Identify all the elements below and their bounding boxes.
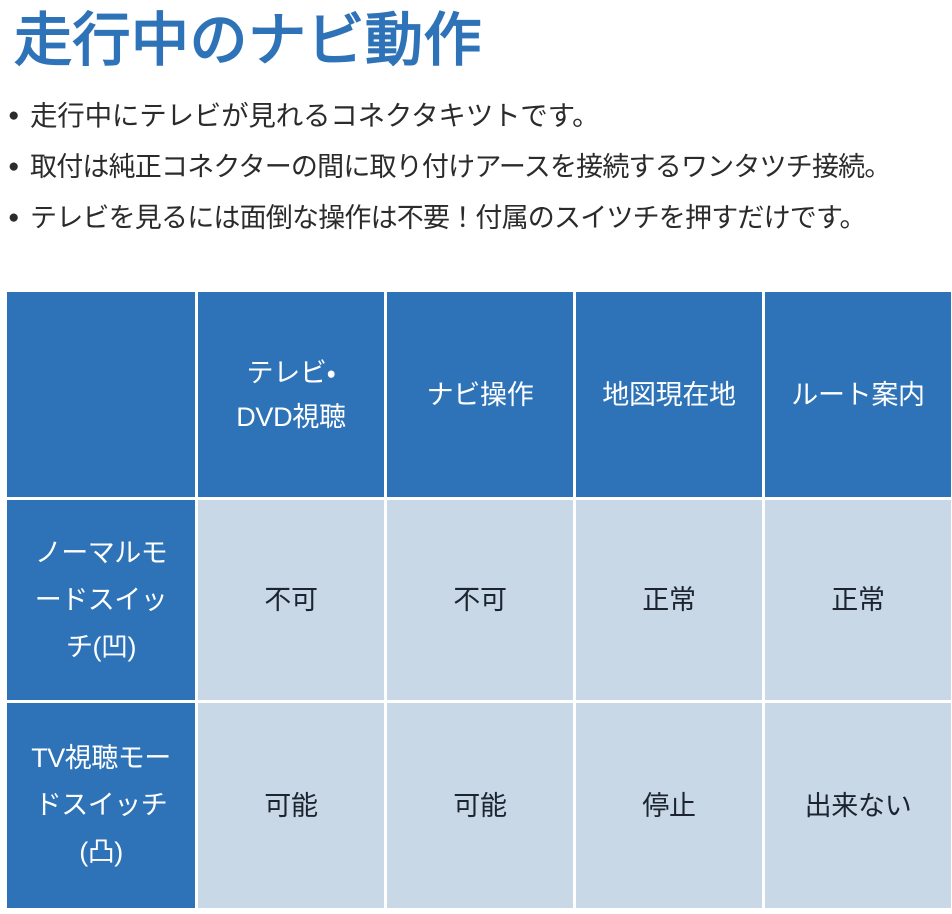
list-item-label: 取付は純正コネクターの間に取り付けアースを接続するワンタツチ接続。 [30,147,952,187]
list-item: ● テレビを見るには面倒な操作は不要！付属のスイツチを押すだけです。 [8,198,952,249]
column-header-tv-dvd: テレビ・ DVD視聴 [198,292,384,497]
bullet-dot-icon: ● [8,96,30,136]
list-item-label: テレビを見るには面倒な操作は不要！付属のスイツチを押すだけです。 [30,198,952,238]
cell-normal-map-current-location: 正常 [576,500,762,700]
row-header-line-3: チ(凹) [7,624,195,671]
column-header-line-1: テレビ・ [198,351,384,395]
cell-normal-nav-operation: 不可 [387,500,573,700]
column-header-map-current-location: 地図現在地 [576,292,762,497]
product-info-page: 走行中のナビ動作 ● 走行中にテレビが見れるコネクタキツトです。 ● 取付は純正… [0,0,952,914]
column-header-nav-operation: ナビ操作 [387,292,573,497]
table-row: TV視聴モー ドスイッチ (凸) 可能 可能 停止 出来ない [7,703,951,908]
table-header-row: テレビ・ DVD視聴 ナビ操作 地図現在地 ルート案内 [7,292,951,497]
page-title: 走行中のナビ動作 [14,6,482,76]
row-header-tv-mode-switch: TV視聴モー ドスイッチ (凸) [7,703,195,908]
cell-tvmode-nav-operation: 可能 [387,703,573,908]
row-header-line-2: ドスイッチ [7,782,195,829]
cell-normal-tv-dvd: 不可 [198,500,384,700]
column-header-line-2: DVD視聴 [198,395,384,439]
row-header-normal-mode-switch: ノーマルモ ードスイッ チ(凹) [7,500,195,700]
column-header-route-guidance: ルート案内 [765,292,951,497]
navigation-behavior-table: テレビ・ DVD視聴 ナビ操作 地図現在地 ルート案内 ノーマルモ ードスイッ … [4,289,952,911]
table-row: ノーマルモ ードスイッ チ(凹) 不可 不可 正常 正常 [7,500,951,700]
cell-tvmode-tv-dvd: 可能 [198,703,384,908]
row-header-line-1: ノーマルモ [7,530,195,577]
list-item-label: 走行中にテレビが見れるコネクタキツトです。 [30,96,952,136]
list-item: ● 取付は純正コネクターの間に取り付けアースを接続するワンタツチ接続。 [8,147,952,198]
cell-normal-route-guidance: 正常 [765,500,951,700]
bullet-dot-icon: ● [8,198,30,238]
cell-tvmode-route-guidance: 出来ない [765,703,951,908]
feature-bullet-list: ● 走行中にテレビが見れるコネクタキツトです。 ● 取付は純正コネクターの間に取… [8,96,952,249]
table-corner-cell [7,292,195,497]
row-header-line-3: (凸) [7,829,195,876]
bullet-dot-icon: ● [8,147,30,187]
list-item: ● 走行中にテレビが見れるコネクタキツトです。 [8,96,952,147]
row-header-line-2: ードスイッ [7,577,195,624]
cell-tvmode-map-current-location: 停止 [576,703,762,908]
row-header-line-1: TV視聴モー [7,735,195,782]
